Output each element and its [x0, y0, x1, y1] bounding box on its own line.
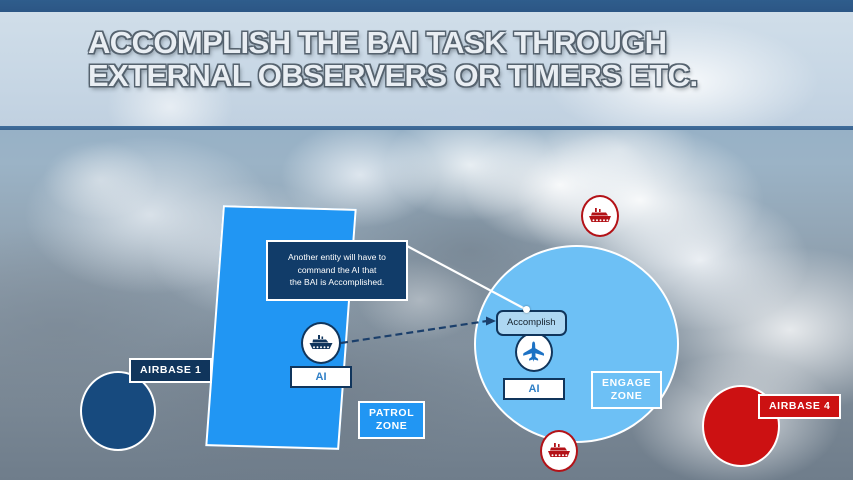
unit-token-naval-ship[interactable] [301, 322, 341, 364]
tank-icon [587, 207, 613, 225]
ai-unit-label-2: AI [503, 378, 565, 400]
tank-icon [546, 442, 572, 460]
unit-token-tank-1[interactable] [581, 195, 619, 237]
accomplish-button[interactable]: Accomplish [496, 310, 567, 336]
fighter-jet-icon [522, 340, 546, 364]
engage-zone-label: ENGAGE ZONE [591, 371, 662, 409]
engage-zone-shape[interactable] [474, 245, 679, 443]
patrol-zone-label: PATROL ZONE [358, 401, 425, 439]
naval-ship-icon [308, 334, 334, 352]
unit-token-tank-2[interactable] [540, 430, 578, 472]
ai-unit-label-1: AI [290, 366, 352, 388]
page-title: ACCOMPLISH THE BAI TASK THROUGH EXTERNAL… [88, 26, 788, 92]
annotation-callout: Another entity will have to command the … [266, 240, 408, 301]
unit-token-fighter-jet[interactable] [515, 332, 553, 372]
airbase-4-label: AIRBASE 4 [758, 394, 841, 419]
presentation-slide: ACCOMPLISH THE BAI TASK THROUGH EXTERNAL… [0, 0, 853, 480]
accomplish-handle-dot[interactable] [523, 306, 530, 313]
title-band-underline [0, 126, 853, 130]
airbase-1-area[interactable] [80, 371, 156, 451]
airbase-1-label: AIRBASE 1 [129, 358, 212, 383]
top-accent-strip [0, 0, 853, 12]
